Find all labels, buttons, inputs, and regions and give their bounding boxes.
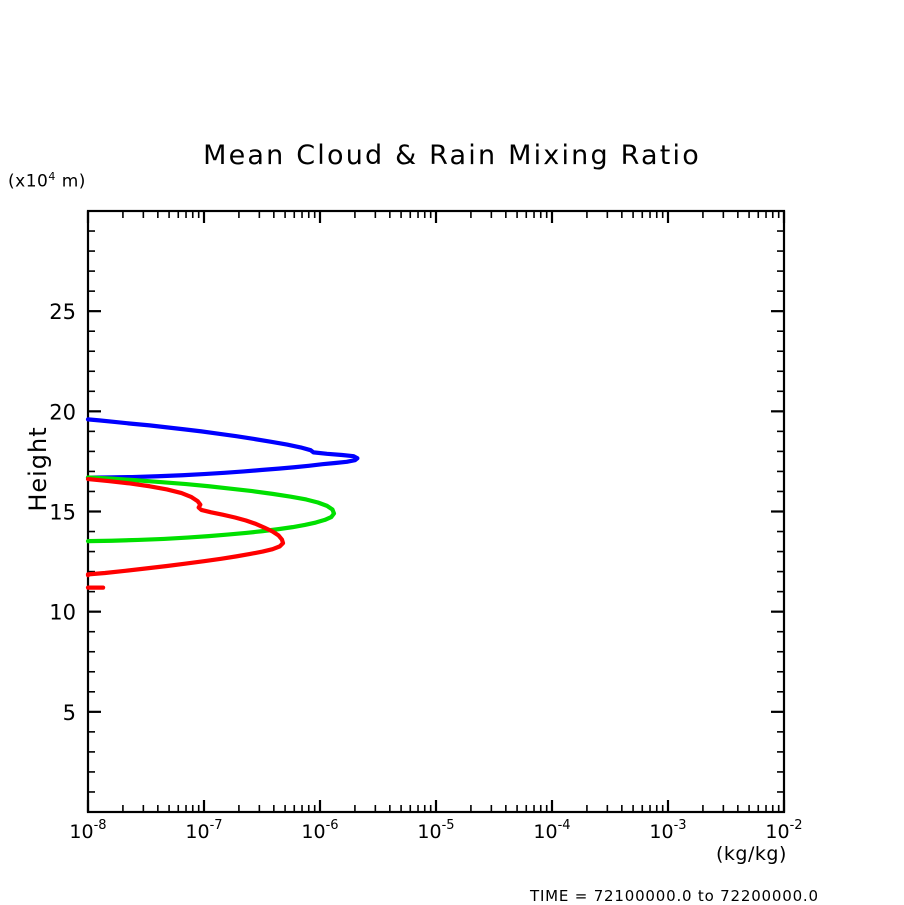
svg-text:10-4: 10-4 [533,818,570,843]
y-axis-ticks [88,231,784,792]
y-axis-tick-labels: 510152025 [49,300,76,725]
svg-text:20: 20 [49,400,76,424]
series-red-profile [88,479,283,575]
series-green-profile [88,477,334,541]
svg-text:10-6: 10-6 [301,818,338,843]
svg-text:25: 25 [49,300,76,324]
svg-text:5: 5 [63,701,76,725]
svg-text:10: 10 [49,601,76,625]
series-blue-profile [88,419,357,477]
plot-canvas: 10-810-710-610-510-410-310-2 510152025 [0,0,904,904]
svg-text:15: 15 [49,501,76,525]
svg-text:10-7: 10-7 [185,818,222,843]
svg-text:10-3: 10-3 [649,818,686,843]
svg-text:10-2: 10-2 [765,818,802,843]
svg-text:10-8: 10-8 [69,818,106,843]
x-axis-tick-labels: 10-810-710-610-510-410-310-2 [69,818,802,843]
plot-page: Mean Cloud & Rain Mixing Ratio (x104 m) … [0,0,904,904]
axis-frame [88,211,784,812]
svg-text:10-5: 10-5 [417,818,454,843]
data-series-layer [88,419,357,587]
x-axis-ticks [88,211,784,812]
